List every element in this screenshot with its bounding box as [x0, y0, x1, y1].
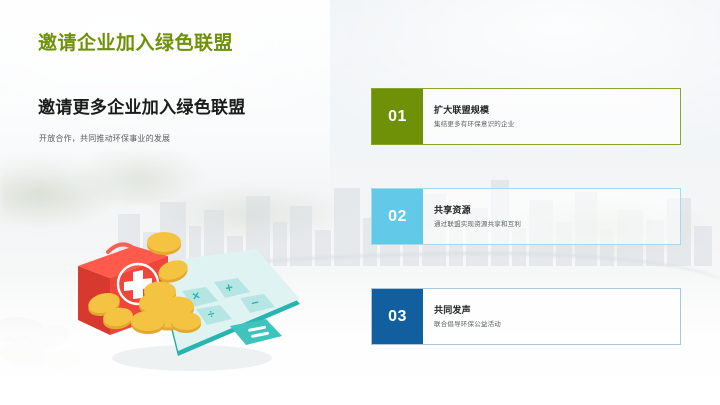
- feature-card-01-desc: 集结更多有环保意识的企业: [434, 121, 680, 129]
- feature-card-02-desc: 通过联盟实现资源共享和互利: [434, 221, 680, 229]
- feature-card-01[interactable]: 01 扩大联盟规模 集结更多有环保意识的企业: [371, 88, 681, 145]
- feature-card-03-body: 共同发声 联合倡导环保公益活动: [423, 289, 680, 344]
- calculator-medical-kit-coins-illustration: × + ÷ −: [60, 208, 310, 373]
- lead-heading: 邀请更多企业加入绿色联盟: [38, 93, 246, 118]
- feature-card-02-body: 共享资源 通过联盟实现资源共享和互利: [423, 189, 680, 244]
- feature-card-03-title: 共同发声: [434, 305, 680, 316]
- feature-card-03-number: 03: [372, 289, 423, 344]
- feature-card-02[interactable]: 02 共享资源 通过联盟实现资源共享和互利: [371, 188, 681, 245]
- page-title: 邀请企业加入绿色联盟: [38, 28, 233, 55]
- feature-card-03-desc: 联合倡导环保公益活动: [434, 321, 680, 329]
- feature-card-01-body: 扩大联盟规模 集结更多有环保意识的企业: [423, 89, 680, 144]
- slide-root: 邀请企业加入绿色联盟 邀请更多企业加入绿色联盟 开放合作，共同推动环保事业的发展…: [0, 0, 720, 405]
- lead-subheading: 开放合作，共同推动环保事业的发展: [39, 133, 170, 144]
- feature-card-03[interactable]: 03 共同发声 联合倡导环保公益活动: [371, 288, 681, 345]
- feature-card-02-title: 共享资源: [434, 205, 680, 216]
- feature-card-01-title: 扩大联盟规模: [434, 105, 680, 116]
- feature-card-01-number: 01: [372, 89, 423, 144]
- feature-card-02-number: 02: [372, 189, 423, 244]
